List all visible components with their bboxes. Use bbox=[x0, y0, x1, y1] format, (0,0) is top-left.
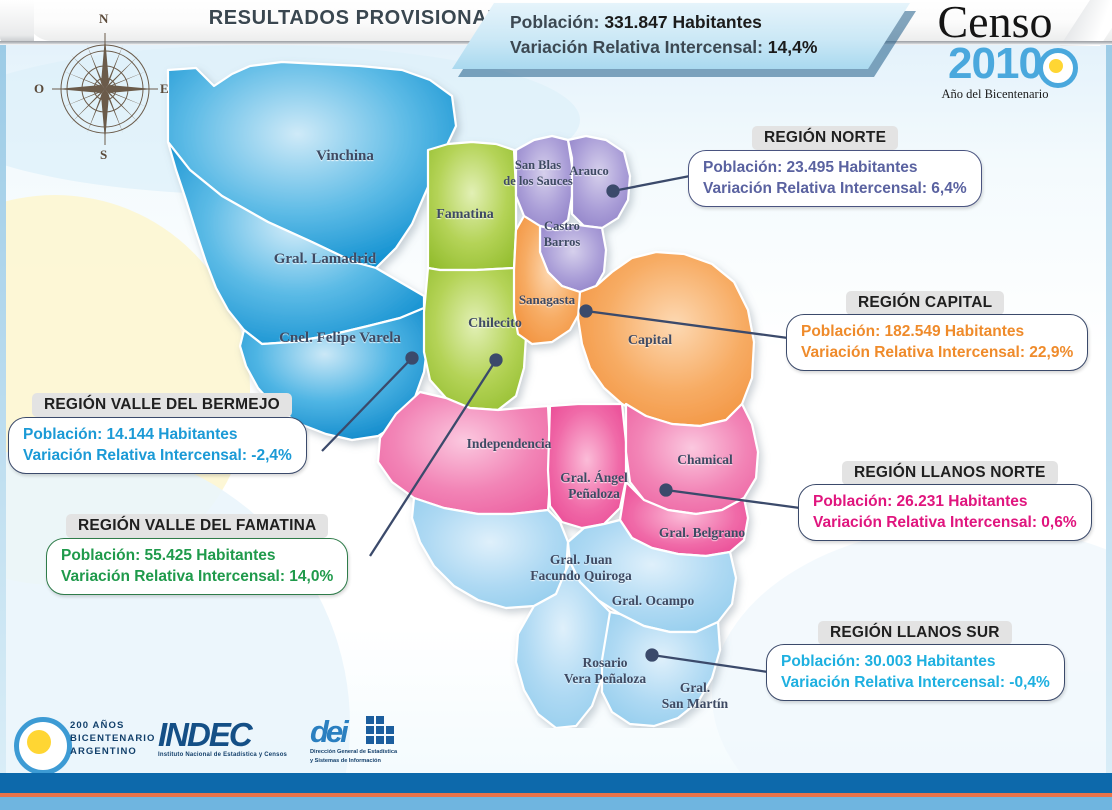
region-variacion-valle-bermejo: Variación Relativa Intercensal: -2,4% bbox=[23, 445, 292, 466]
region-poblacion-llanos-norte: Población: 26.231 Habitantes bbox=[813, 491, 1077, 512]
banner-variacion-value: 14,4% bbox=[768, 37, 818, 57]
logo-word-censo: Censo bbox=[900, 0, 1090, 44]
banner-poblacion-label: Población: bbox=[510, 12, 599, 32]
connector-norte bbox=[613, 176, 690, 191]
connector-capital bbox=[586, 311, 788, 338]
infographic-root: Vinchina Gral. Lamadrid Cnel. Felipe Var… bbox=[0, 0, 1112, 810]
dei-wordmark: dei bbox=[310, 716, 420, 747]
bicentenario-text: 200 AÑOS BICENTENARIO ARGENTINO bbox=[70, 719, 156, 758]
region-box-valle-bermejo[interactable]: Población: 14.144 Habitantes Variación R… bbox=[8, 417, 307, 474]
bicentenario-line3: ARGENTINO bbox=[70, 745, 156, 758]
compass-label-o: O bbox=[34, 81, 44, 97]
banner-poblacion-value: 331.847 Habitantes bbox=[604, 12, 762, 32]
region-box-norte[interactable]: Población: 23.495 Habitantes Variación R… bbox=[688, 150, 982, 207]
compass-label-s: S bbox=[100, 147, 107, 163]
connector-valle-bermejo bbox=[322, 358, 412, 451]
indec-subtitle: Instituto Nacional de Estadística y Cens… bbox=[158, 752, 292, 758]
region-variacion-norte: Variación Relativa Intercensal: 6,4% bbox=[703, 178, 967, 199]
indec-wordmark: INDEC bbox=[158, 718, 292, 751]
bicentenario-sun-icon bbox=[14, 717, 72, 775]
logo-year-text: 2010 bbox=[948, 39, 1042, 88]
banner-text: Población: 331.847 Habitantes Variación … bbox=[510, 10, 910, 60]
region-variacion-llanos-sur: Variación Relativa Intercensal: -0,4% bbox=[781, 672, 1050, 693]
region-poblacion-valle-famatina: Población: 55.425 Habitantes bbox=[61, 545, 333, 566]
compass-rose-icon bbox=[46, 15, 164, 160]
connector-dot-capital bbox=[581, 306, 592, 317]
connector-valle-famatina bbox=[370, 360, 496, 556]
bicentenario-line2: BICENTENARIO bbox=[70, 732, 156, 745]
connector-dot-valle-bermejo bbox=[407, 353, 418, 364]
region-title-valle-bermejo: REGIÓN VALLE DEL BERMEJO bbox=[32, 393, 292, 417]
footer-band-dark bbox=[0, 773, 1112, 793]
dei-subtitle-line2: y Sistemas de Información bbox=[310, 758, 420, 765]
logo-year-2010: 2010 bbox=[900, 44, 1090, 84]
dei-subtitle-line1: Dirección General de Estadística bbox=[310, 749, 420, 756]
bicentenario-logo: 200 AÑOS BICENTENARIO ARGENTINO bbox=[14, 713, 164, 771]
region-poblacion-capital: Población: 182.549 Habitantes bbox=[801, 321, 1073, 342]
dei-logo: dei Dirección General de Estadística y S… bbox=[310, 716, 420, 770]
indec-logo: INDEC Instituto Nacional de Estadística … bbox=[158, 718, 292, 768]
region-variacion-capital: Variación Relativa Intercensal: 22,9% bbox=[801, 342, 1073, 363]
censo-2010-logo: Censo 2010 Año del Bicentenario bbox=[900, 0, 1090, 112]
region-variacion-llanos-norte: Variación Relativa Intercensal: 0,6% bbox=[813, 512, 1077, 533]
connector-dot-norte bbox=[608, 186, 619, 197]
region-box-llanos-sur[interactable]: Población: 30.003 Habitantes Variación R… bbox=[766, 644, 1065, 701]
region-box-capital[interactable]: Población: 182.549 Habitantes Variación … bbox=[786, 314, 1088, 371]
compass-rose: N O E S bbox=[46, 15, 164, 160]
compass-label-e: E bbox=[160, 81, 169, 97]
sun-of-may-icon bbox=[1038, 48, 1078, 88]
logo-tagline: Año del Bicentenario bbox=[900, 87, 1090, 102]
banner-poblacion-row: Población: 331.847 Habitantes bbox=[510, 10, 910, 35]
banner-variacion-row: Variación Relativa Intercensal: 14,4% bbox=[510, 35, 910, 60]
connector-dot-valle-famatina bbox=[491, 355, 502, 366]
region-poblacion-llanos-sur: Población: 30.003 Habitantes bbox=[781, 651, 1050, 672]
connector-dot-llanos-norte bbox=[661, 485, 672, 496]
compass-label-n: N bbox=[99, 11, 108, 27]
total-population-banner: Población: 331.847 Habitantes Variación … bbox=[452, 3, 922, 79]
connector-llanos-norte bbox=[666, 490, 800, 508]
region-box-llanos-norte[interactable]: Población: 26.231 Habitantes Variación R… bbox=[798, 484, 1092, 541]
connector-llanos-sur bbox=[652, 655, 768, 672]
footer-band-light bbox=[0, 797, 1112, 810]
region-title-norte: REGIÓN NORTE bbox=[752, 126, 898, 150]
dei-grid-icon bbox=[366, 716, 396, 748]
region-poblacion-valle-bermejo: Población: 14.144 Habitantes bbox=[23, 424, 292, 445]
region-variacion-valle-famatina: Variación Relativa Intercensal: 14,0% bbox=[61, 566, 333, 587]
region-title-valle-famatina: REGIÓN VALLE DEL FAMATINA bbox=[66, 514, 328, 538]
region-box-valle-famatina[interactable]: Población: 55.425 Habitantes Variación R… bbox=[46, 538, 348, 595]
region-title-capital: REGIÓN CAPITAL bbox=[846, 291, 1004, 315]
banner-variacion-label: Variación Relativa Intercensal: bbox=[510, 37, 763, 57]
region-title-llanos-norte: REGIÓN LLANOS NORTE bbox=[842, 461, 1058, 485]
bicentenario-line1: 200 AÑOS bbox=[70, 719, 156, 732]
region-title-llanos-sur: REGIÓN LLANOS SUR bbox=[818, 621, 1012, 645]
connector-dot-llanos-sur bbox=[647, 650, 658, 661]
region-poblacion-norte: Población: 23.495 Habitantes bbox=[703, 157, 967, 178]
